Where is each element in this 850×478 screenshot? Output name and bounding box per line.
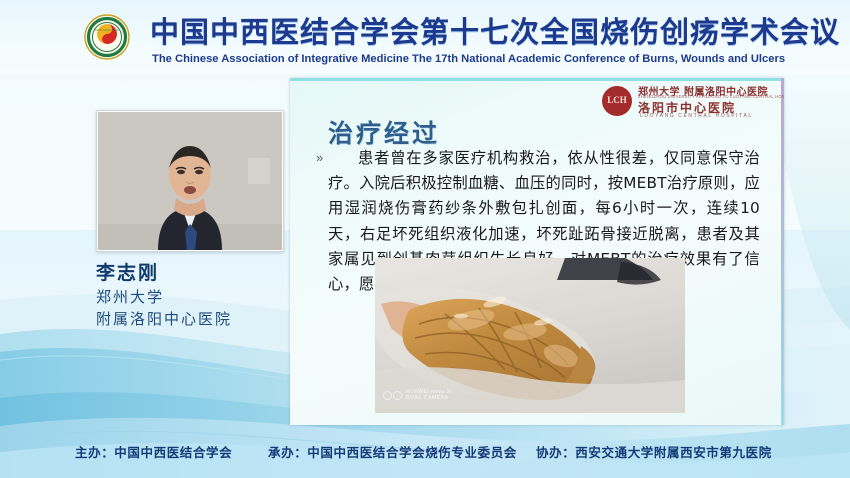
slide-title: 治疗经过 xyxy=(328,114,440,150)
clinical-wound-photo: HUAWEI nova 3i DUAL CAMERA xyxy=(375,258,685,413)
slide-right-accent-bar xyxy=(781,78,784,425)
cjaim-circular-emblem-icon xyxy=(84,14,130,60)
speaker-video[interactable] xyxy=(98,112,282,250)
footer-organizer: 主办：中国中西医结合学会 xyxy=(75,442,232,461)
speaker-video-frame[interactable] xyxy=(96,110,284,252)
presentation-slide[interactable]: 郑州大学 附属洛阳中心医院 ZHENGZHOU UNIVERSITY AFFIL… xyxy=(290,78,784,425)
hospital-name-en-2: LUOYANG CENTRAL HOSPITAL xyxy=(640,113,753,119)
broadcast-stage: 中国中西医结合学会第十七次全国烧伤创疡学术会议 The Chinese Asso… xyxy=(0,0,850,478)
conference-title-cn: 中国中西医结合学会第十七次全国烧伤创疡学术会议 xyxy=(150,13,780,51)
conference-footer: 主办：中国中西医结合学会 承办：中国中西医结合学会烧伤专业委员会 协办：西安交通… xyxy=(0,426,850,478)
speaker-portrait xyxy=(98,112,282,250)
footer-coorganizer: 协办：西安交通大学附属西安市第九医院 xyxy=(536,442,772,461)
footer-host: 承办：中国中西医结合学会烧伤专业委员会 xyxy=(268,442,517,461)
photo-watermark: HUAWEI nova 3i DUAL CAMERA xyxy=(383,389,452,401)
watermark-line2: DUAL CAMERA xyxy=(406,395,452,401)
huawei-dual-camera-icon xyxy=(383,391,402,400)
slide-top-accent-bar xyxy=(290,78,784,81)
conference-title-en: The Chinese Association of Integrative M… xyxy=(152,52,792,66)
hospital-logo: 郑州大学 附属洛阳中心医院 ZHENGZHOU UNIVERSITY AFFIL… xyxy=(602,83,774,119)
speaker-name: 李志刚 xyxy=(96,258,316,285)
lch-hospital-mark-icon xyxy=(602,86,632,116)
bullet-marker-icon: » xyxy=(316,150,323,165)
conference-header: 中国中西医结合学会第十七次全国烧伤创疡学术会议 The Chinese Asso… xyxy=(0,0,850,74)
